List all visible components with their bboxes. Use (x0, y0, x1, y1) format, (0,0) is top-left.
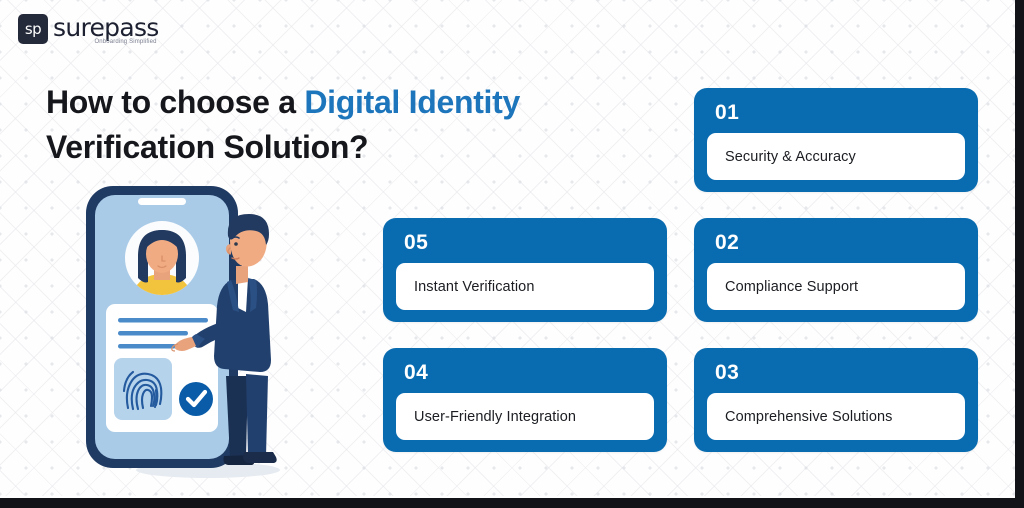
card-label-box: Comprehensive Solutions (707, 393, 965, 440)
card-label: User-Friendly Integration (414, 409, 576, 425)
card-number: 01 (694, 88, 978, 125)
card-label-box: Instant Verification (396, 263, 654, 310)
logo-text-group: surepass Onboarding Simplified (53, 14, 159, 45)
title-line1-plain: How to choose a (46, 84, 304, 120)
feature-card-01[interactable]: 01 Security & Accuracy (694, 88, 978, 192)
brand-logo[interactable]: sp surepass Onboarding Simplified (18, 14, 159, 45)
card-label: Instant Verification (414, 279, 535, 295)
card-label-box: Compliance Support (707, 263, 965, 310)
feature-card-03[interactable]: 03 Comprehensive Solutions (694, 348, 978, 452)
logo-mark-icon: sp (18, 14, 48, 44)
frame-edge-bottom (0, 498, 1024, 508)
page-title: How to choose a Digital Identity Verific… (46, 80, 666, 170)
card-label-box: User-Friendly Integration (396, 393, 654, 440)
card-number: 03 (694, 348, 978, 385)
card-label: Security & Accuracy (725, 149, 856, 165)
title-highlight: Digital Identity (304, 84, 520, 120)
title-line2: Verification Solution? (46, 129, 368, 165)
frame-edge-right (1015, 0, 1024, 508)
card-label: Compliance Support (725, 279, 858, 295)
card-number: 05 (383, 218, 667, 255)
logo-wordmark: surepass (53, 15, 159, 41)
card-number: 04 (383, 348, 667, 385)
feature-card-05[interactable]: 05 Instant Verification (383, 218, 667, 322)
feature-card-02[interactable]: 02 Compliance Support (694, 218, 978, 322)
card-label-box: Security & Accuracy (707, 133, 965, 180)
card-label: Comprehensive Solutions (725, 409, 893, 425)
digital-identity-verification-illustration (78, 178, 308, 483)
card-number: 02 (694, 218, 978, 255)
feature-card-04[interactable]: 04 User-Friendly Integration (383, 348, 667, 452)
infographic-slide: sp surepass Onboarding Simplified How to… (0, 0, 1024, 508)
